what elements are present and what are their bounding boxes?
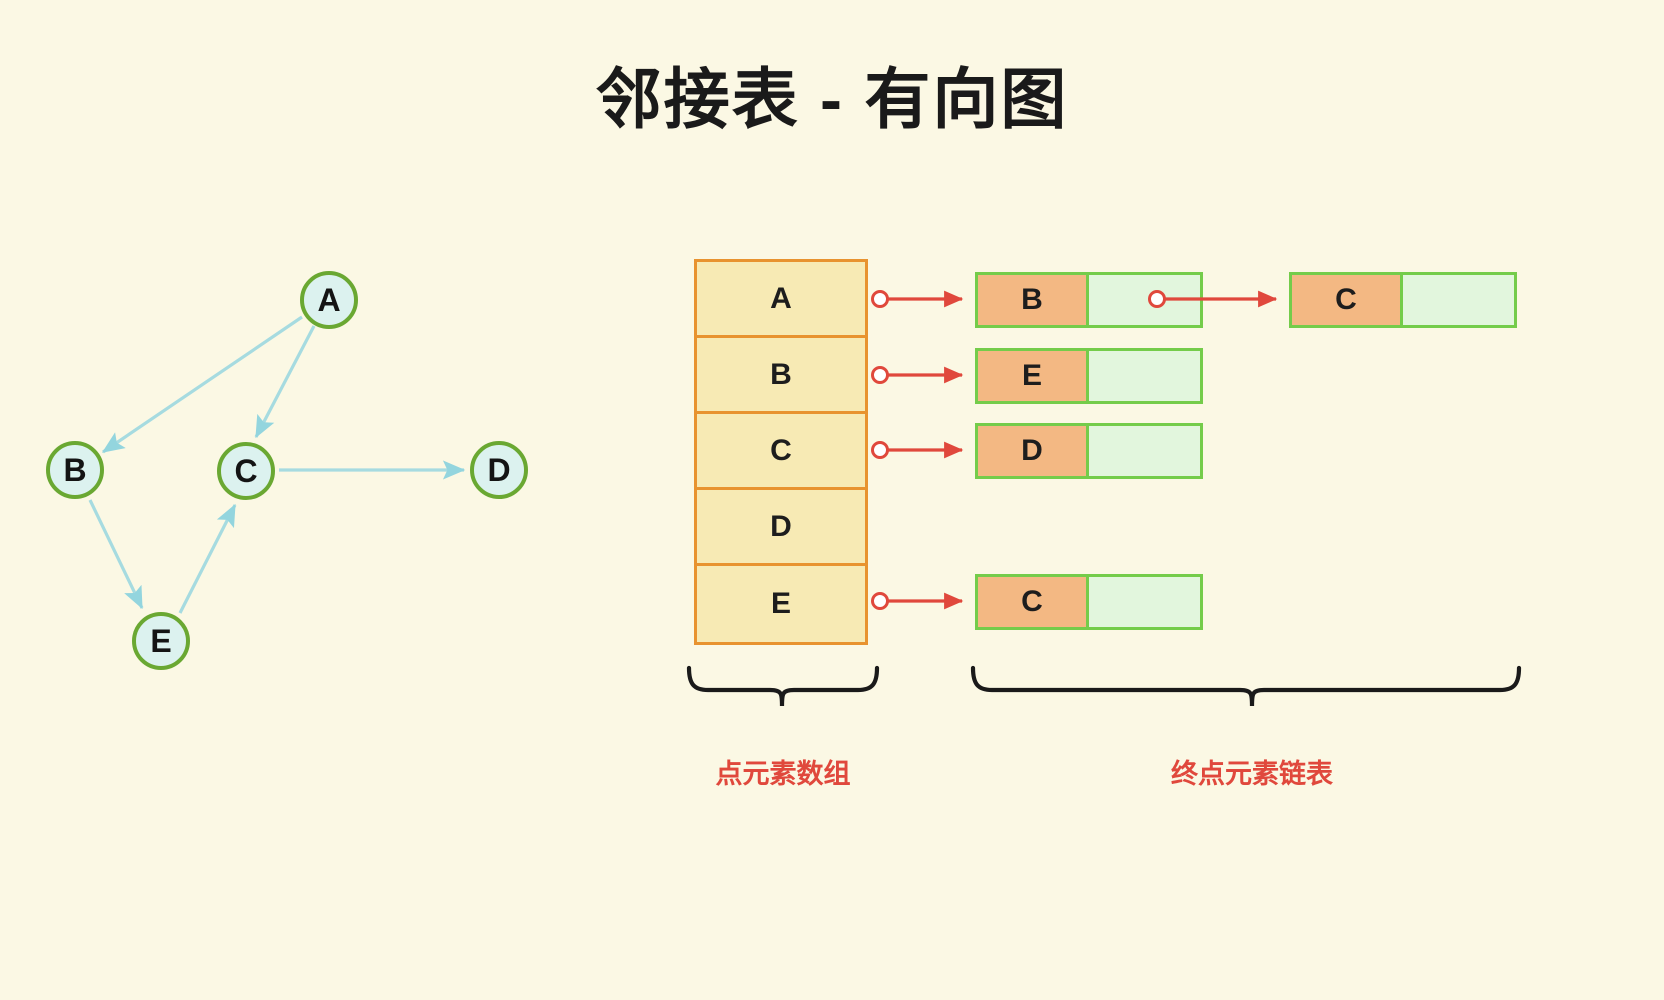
vertex-cell-b-label: B [770,358,792,392]
graph-node-d-label: D [487,452,510,489]
list-node-e-0-value: C [978,577,1089,627]
graph-node-c-label: C [234,453,257,490]
list-node-b-0[interactable]: E [975,348,1203,404]
caption-chain-lists: 终点元素链表 [1152,752,1352,791]
list-node-c-0-pointer-cell [1089,426,1200,476]
graph-node-c[interactable]: C [217,442,275,500]
pointer-a [873,292,963,307]
brace-chain-lists [973,668,1519,706]
graph-node-e-label: E [150,623,171,660]
vertex-cell-c[interactable]: C [697,414,865,490]
diagram-root: 邻接表 - 有向图 A B C D E [0,0,1664,1000]
list-node-e-0-pointer-cell [1089,577,1200,627]
graph-node-b-label: B [63,452,86,489]
graph-node-a[interactable]: A [300,271,358,329]
list-node-c-0[interactable]: D [975,423,1203,479]
graph-node-e[interactable]: E [132,612,190,670]
graph-node-b[interactable]: B [46,441,104,499]
pointer-b [873,368,963,383]
list-node-a-0[interactable]: B [975,272,1203,328]
list-node-a-1-pointer-cell [1403,275,1514,325]
vertex-cell-d-label: D [770,510,792,544]
vertex-array: A B C D E [694,259,868,645]
list-node-a-1[interactable]: C [1289,272,1517,328]
edge-a-c [256,326,314,437]
list-node-a-0-value: B [978,275,1089,325]
vertex-cell-a-label: A [770,282,792,316]
list-node-a-1-value: C [1292,275,1403,325]
edge-a-b [103,317,302,452]
vertex-cell-b[interactable]: B [697,338,865,414]
vertex-cell-d[interactable]: D [697,490,865,566]
pointer-c [873,443,963,458]
vertex-cell-a[interactable]: A [697,262,865,338]
list-node-b-0-pointer-cell [1089,351,1200,401]
graph-node-d[interactable]: D [470,441,528,499]
list-node-b-0-value: E [978,351,1089,401]
list-node-e-0[interactable]: C [975,574,1203,630]
edge-b-e [90,500,142,608]
page-title: 邻接表 - 有向图 [0,46,1664,142]
edge-e-c [180,505,235,613]
list-node-a-0-pointer-cell [1089,275,1200,325]
brace-vertex-array [689,668,877,706]
pointer-e [873,594,963,609]
graph-node-a-label: A [317,282,340,319]
vertex-cell-e-label: E [771,587,791,621]
list-node-c-0-value: D [978,426,1089,476]
vertex-cell-c-label: C [770,434,792,468]
vertex-cell-e[interactable]: E [697,566,865,642]
caption-vertex-array: 点元素数组 [699,752,867,791]
